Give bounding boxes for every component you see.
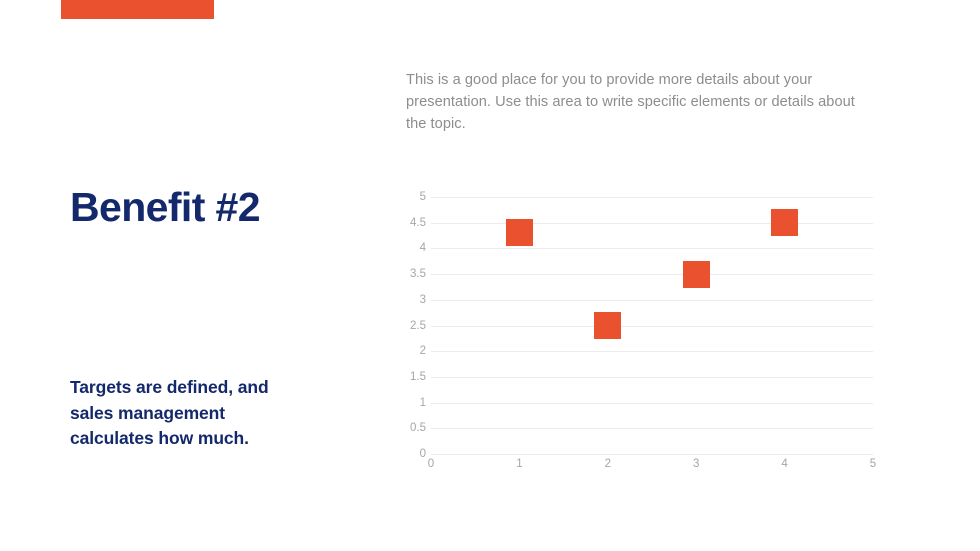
y-axis-tick-label: 1.5 xyxy=(382,371,426,383)
y-axis-tick-label: 1 xyxy=(382,397,426,409)
y-axis-tick-label: 3 xyxy=(382,294,426,306)
x-axis-tick-label: 5 xyxy=(853,458,893,470)
gridline xyxy=(431,300,873,301)
x-axis-tick-label: 4 xyxy=(765,458,805,470)
data-point-marker xyxy=(771,209,798,236)
body-paragraph: This is a good place for you to provide … xyxy=(406,70,858,136)
gridline xyxy=(431,377,873,378)
subheading-text: Targets are defined, and sales managemen… xyxy=(70,375,300,452)
gridline xyxy=(431,223,873,224)
gridline xyxy=(431,248,873,249)
slide-canvas: Benefit #2 Targets are defined, and sale… xyxy=(0,0,980,551)
gridline xyxy=(431,403,873,404)
y-axis-tick-label: 4.5 xyxy=(382,217,426,229)
scatter-chart: 54.543.532.521.510.50012345 xyxy=(400,186,880,476)
data-point-marker xyxy=(594,312,621,339)
x-axis-tick-label: 3 xyxy=(676,458,716,470)
y-axis-tick-label: 3.5 xyxy=(382,268,426,280)
x-axis-tick-label: 0 xyxy=(411,458,451,470)
plot-area xyxy=(431,197,873,454)
y-axis-tick-label: 2 xyxy=(382,345,426,357)
y-axis-tick-label: 2.5 xyxy=(382,320,426,332)
gridline xyxy=(431,428,873,429)
y-axis-tick-label: 4 xyxy=(382,242,426,254)
x-axis-tick-label: 2 xyxy=(588,458,628,470)
data-point-marker xyxy=(506,219,533,246)
y-axis-tick-label: 0.5 xyxy=(382,422,426,434)
x-axis-tick-label: 1 xyxy=(499,458,539,470)
gridline xyxy=(431,274,873,275)
y-axis-tick-label: 5 xyxy=(382,191,426,203)
gridline xyxy=(431,351,873,352)
page-title: Benefit #2 xyxy=(70,185,370,229)
accent-bar xyxy=(61,0,214,19)
gridline xyxy=(431,326,873,327)
gridline xyxy=(431,454,873,455)
gridline xyxy=(431,197,873,198)
data-point-marker xyxy=(683,261,710,288)
